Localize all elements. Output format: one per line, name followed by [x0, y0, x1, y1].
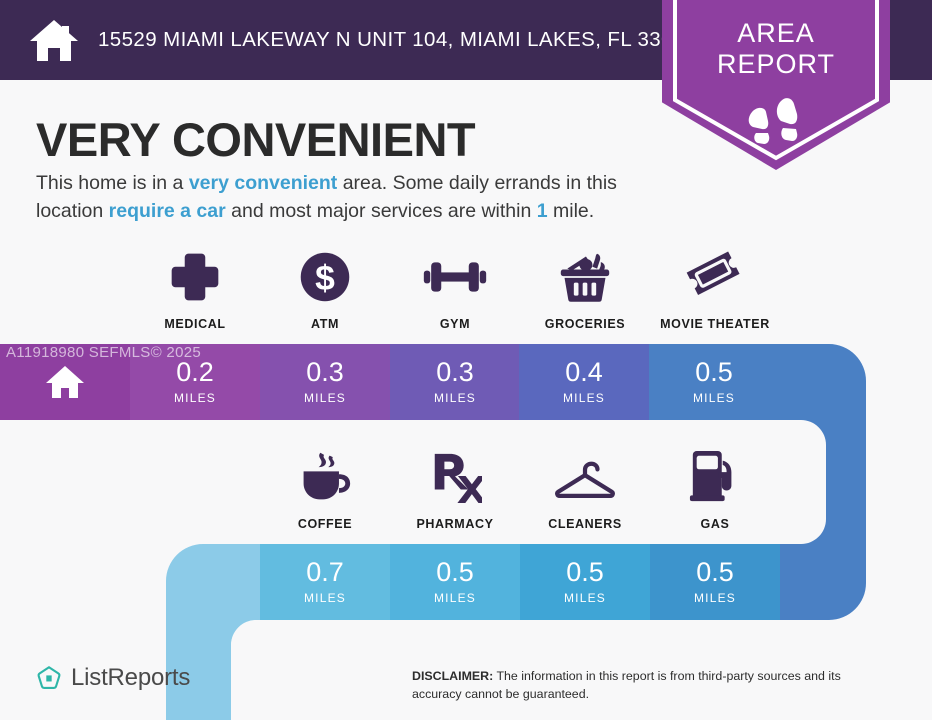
- distance-cell-pharmacy: 0.5MILES: [390, 544, 520, 620]
- home-icon: [28, 16, 80, 64]
- distance-unit: MILES: [564, 591, 606, 605]
- distance-cell-cleaners: 0.5MILES: [520, 544, 650, 620]
- category-label: MOVIE THEATER: [660, 317, 770, 331]
- distance-value: 0.3: [306, 359, 344, 386]
- category-medical: MEDICAL: [130, 248, 260, 331]
- distance-unit: MILES: [304, 391, 346, 405]
- hero-text: This home is in a: [36, 172, 189, 194]
- page-title: VERY CONVENIENT: [36, 112, 475, 167]
- distance-unit: MILES: [434, 391, 476, 405]
- category-movie-theater: MOVIE THEATER: [650, 248, 780, 331]
- distance-unit: MILES: [434, 591, 476, 605]
- ribbon-start-home: [0, 344, 130, 420]
- property-address: 15529 MIAMI LAKEWAY N UNIT 104, MIAMI LA…: [98, 28, 696, 52]
- movie-ticket-icon: [686, 248, 744, 306]
- badge-line-1: AREA: [662, 18, 890, 49]
- distance-value: 0.4: [565, 359, 603, 386]
- category-icon-row-1: MEDICAL$ATMGYMGROCERIESMOVIE THEATER: [130, 248, 780, 331]
- distance-cell-medical: 0.2MILES: [130, 344, 260, 420]
- distance-ribbon: 0.2MILES0.3MILES0.3MILES0.4MILES0.5MILES…: [0, 340, 932, 720]
- distance-value: 0.5: [695, 359, 733, 386]
- distance-value: 0.5: [696, 559, 734, 586]
- hero-text: mile.: [548, 200, 595, 222]
- disclaimer: DISCLAIMER: The information in this repo…: [412, 668, 892, 703]
- area-report-page: 15529 MIAMI LAKEWAY N UNIT 104, MIAMI LA…: [0, 0, 932, 720]
- distance-value: 0.7: [306, 559, 344, 586]
- distance-unit: MILES: [174, 391, 216, 405]
- badge-title: AREA REPORT: [662, 18, 890, 79]
- distance-cell-movie-theater: 0.5MILES: [649, 344, 779, 420]
- distance-unit: MILES: [693, 391, 735, 405]
- footprints-icon: [745, 98, 807, 150]
- medical-cross-icon: [167, 248, 223, 306]
- category-groceries: GROCERIES: [520, 248, 650, 331]
- distance-cell-gym: 0.3MILES: [390, 344, 520, 420]
- hero-highlight: very convenient: [189, 172, 337, 194]
- category-label: GROCERIES: [545, 317, 625, 331]
- distance-unit: MILES: [563, 391, 605, 405]
- distance-value: 0.5: [566, 559, 604, 586]
- hero-highlight: require a car: [109, 200, 226, 222]
- category-label: ATM: [311, 317, 339, 331]
- distance-unit: MILES: [694, 591, 736, 605]
- distance-cell-groceries: 0.4MILES: [519, 344, 649, 420]
- listreports-logo-icon: [36, 665, 62, 691]
- ribbon-inner-corner: [231, 620, 341, 720]
- disclaimer-label: DISCLAIMER:: [412, 669, 493, 683]
- distance-value: 0.2: [176, 359, 214, 386]
- category-atm: $ATM: [260, 248, 390, 331]
- category-label: GYM: [440, 317, 470, 331]
- category-label: MEDICAL: [164, 317, 225, 331]
- hero-description: This home is in a very convenient area. …: [36, 170, 661, 225]
- distance-cell-atm: 0.3MILES: [260, 344, 390, 420]
- dumbbell-icon: [422, 248, 488, 306]
- ribbon-row2-leadin: [203, 544, 260, 620]
- distance-value: 0.5: [436, 559, 474, 586]
- distance-unit: MILES: [304, 591, 346, 605]
- brand-name: ListReports: [71, 664, 190, 692]
- home-icon: [45, 364, 85, 400]
- distance-value: 0.3: [436, 359, 474, 386]
- hero-highlight: 1: [537, 200, 548, 222]
- badge-line-2: REPORT: [662, 49, 890, 80]
- category-gym: GYM: [390, 248, 520, 331]
- listreports-brand: ListReports: [36, 664, 190, 692]
- distance-cell-coffee: 0.7MILES: [260, 544, 390, 620]
- grocery-basket-icon: [556, 248, 614, 306]
- hero-text: and most major services are within: [226, 200, 537, 222]
- svg-text:$: $: [315, 258, 335, 298]
- distance-cell-gas: 0.5MILES: [650, 544, 780, 620]
- dollar-coin-icon: $: [297, 248, 353, 306]
